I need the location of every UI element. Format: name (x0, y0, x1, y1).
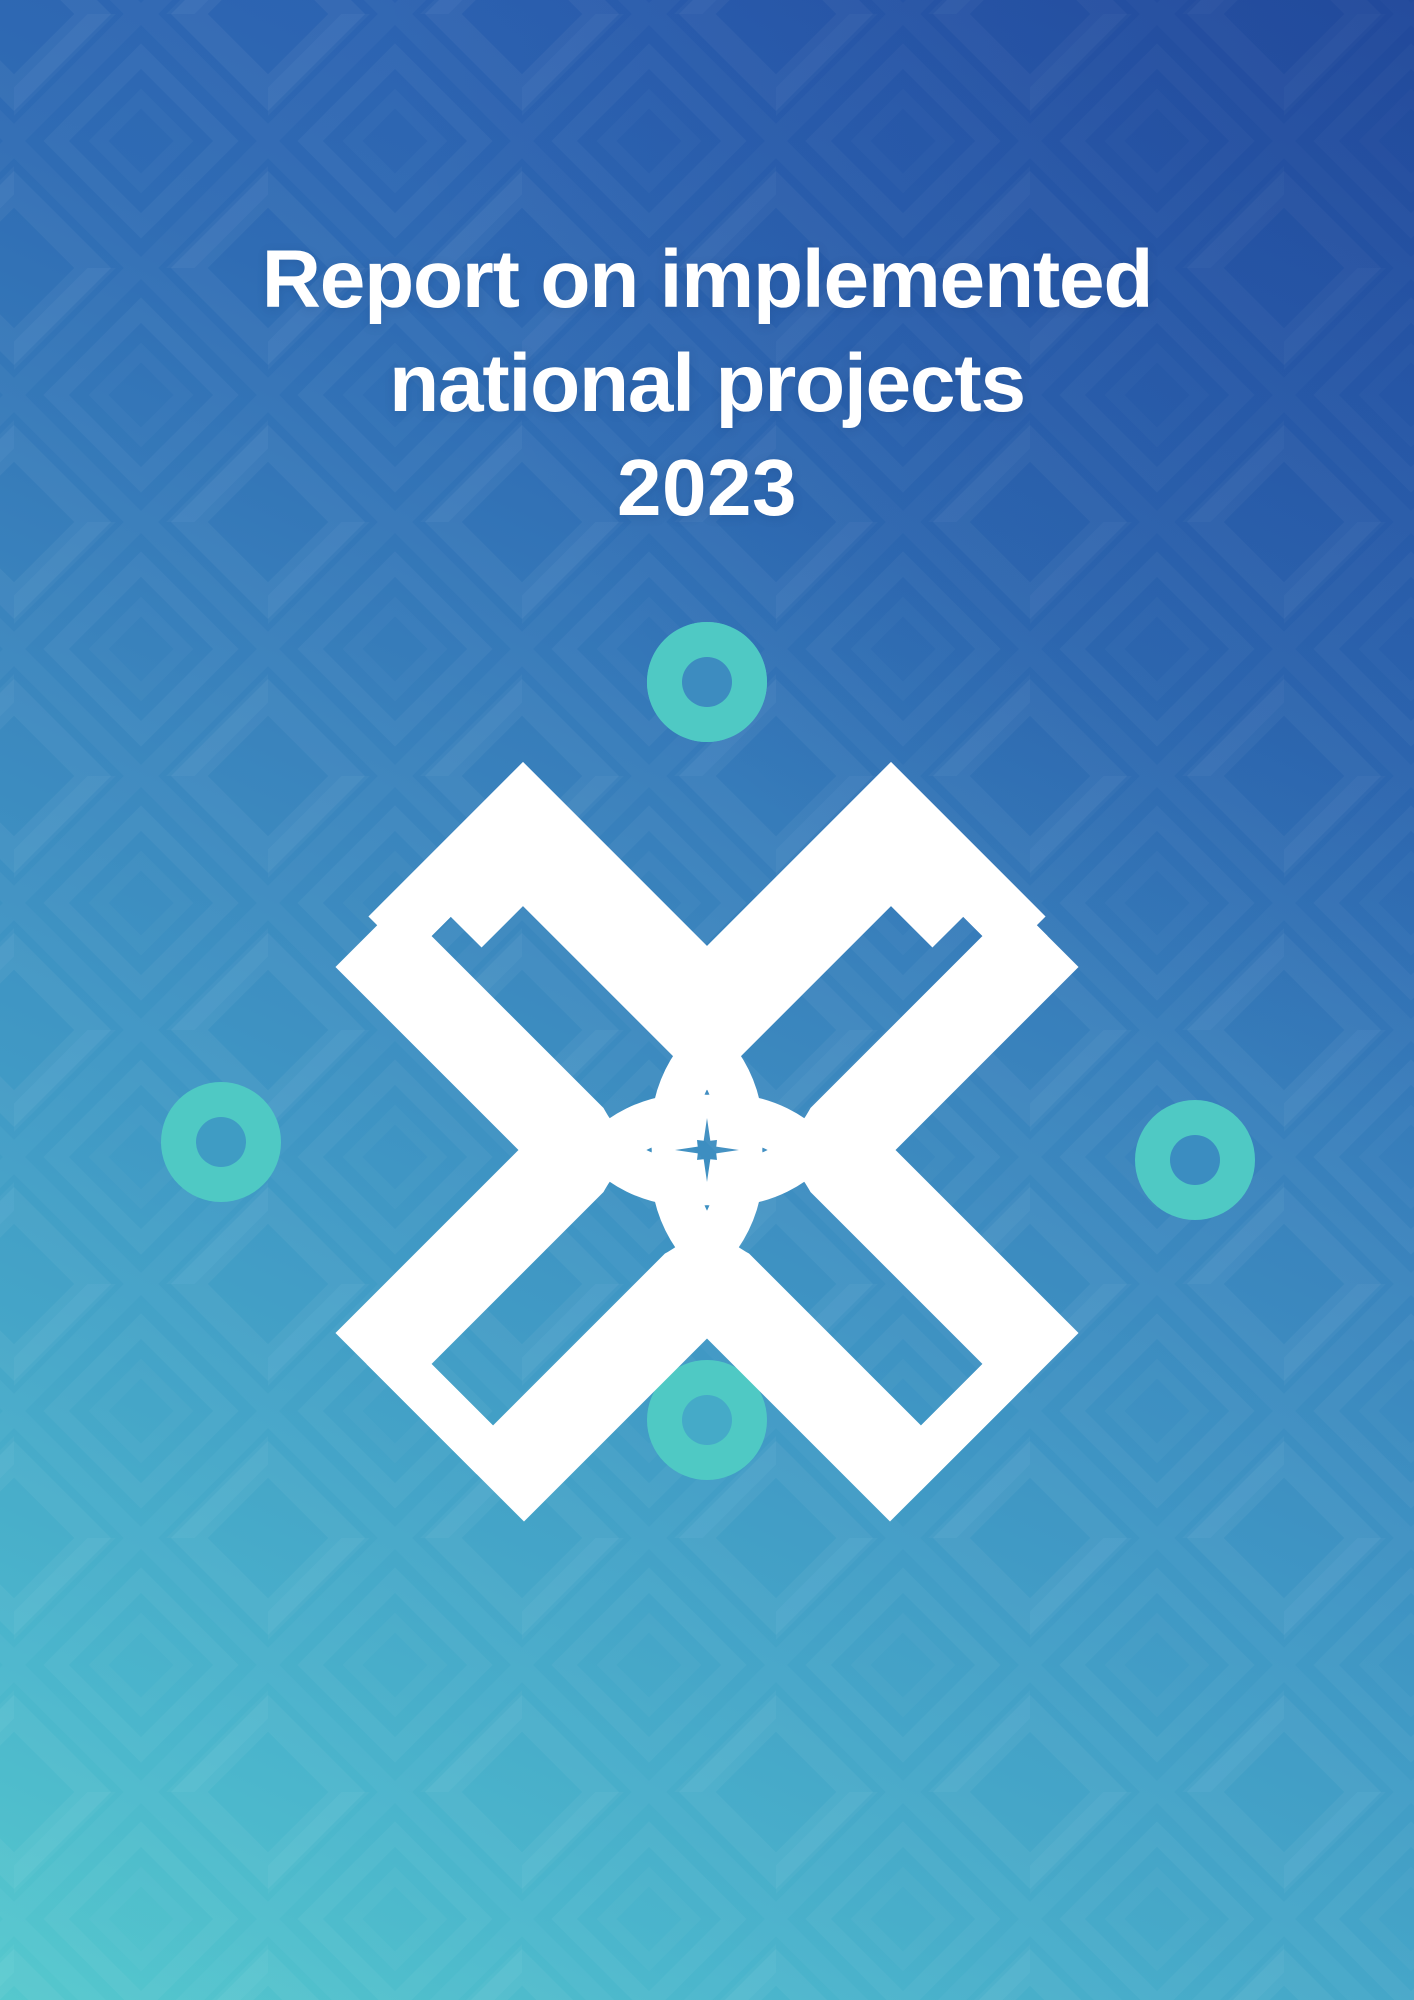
accent-ring-right-inner (1170, 1135, 1220, 1185)
title-line-2: national projects (70, 332, 1344, 436)
accent-ring-top-inner (682, 657, 732, 707)
title-year: 2023 (70, 436, 1344, 540)
organization-logo (177, 620, 1237, 1500)
page-title: Report on implemented national projects … (0, 228, 1414, 540)
accent-ring-left-inner (196, 1117, 246, 1167)
accent-ring-bottom-inner (682, 1395, 732, 1445)
emblem-container (0, 610, 1414, 1510)
title-line-1: Report on implemented (70, 228, 1344, 332)
report-cover-page: Report on implemented national projects … (0, 0, 1414, 2000)
